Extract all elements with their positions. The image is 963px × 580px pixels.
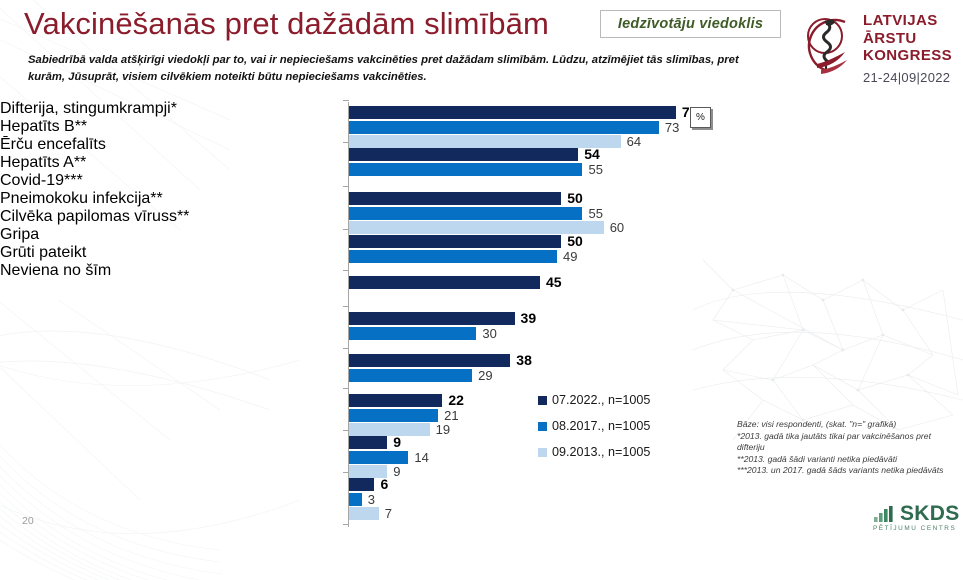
- axis-tick: [343, 186, 349, 187]
- percent-unit-badge: %: [690, 107, 711, 128]
- bar-value-label: 54: [584, 146, 600, 162]
- bar: [349, 507, 379, 520]
- page-subtitle: Sabiedrībā valda atšķirīgi viedokļi par …: [28, 52, 746, 85]
- bar-value-label: 3: [368, 492, 375, 507]
- legend-item[interactable]: 07.2022., n=1005: [538, 393, 650, 407]
- bar-value-label: 45: [546, 274, 562, 290]
- bar: [349, 312, 515, 325]
- axis-tick: [343, 229, 349, 230]
- legend-swatch: [538, 448, 547, 457]
- bar-value-label: 6: [380, 476, 388, 492]
- status-badge: Iedzīvotāju viedoklis: [600, 10, 781, 38]
- bar-value-label: 14: [414, 450, 428, 465]
- bar-value-label: 39: [521, 310, 537, 326]
- bar: [349, 276, 540, 289]
- bar: [349, 235, 561, 248]
- bar-value-label: 19: [436, 422, 450, 437]
- page-title: Vakcinēšanās pret dažādām slimībām: [24, 5, 549, 43]
- legend-swatch: [538, 396, 547, 405]
- bar-value-label: 30: [482, 326, 496, 341]
- bar: [349, 327, 476, 340]
- bar: [349, 478, 374, 491]
- bar-value-label: 21: [444, 408, 458, 423]
- legend-label: 07.2022., n=1005: [552, 393, 650, 407]
- bar: [349, 423, 430, 436]
- axis-tick: [343, 270, 349, 271]
- axis-tick: [343, 348, 349, 349]
- legend-item[interactable]: 09.2013., n=1005: [538, 445, 650, 459]
- bar: [349, 192, 561, 205]
- axis-tick: [343, 100, 349, 101]
- skds-tagline: PĒTĪJUMU CENTRS: [873, 525, 956, 532]
- legend-label: 08.2017., n=1005: [552, 419, 650, 433]
- bar-value-label: 9: [393, 464, 400, 479]
- bar: [349, 354, 510, 367]
- rod-of-asclepius-icon: [795, 8, 861, 80]
- bar-value-label: 29: [478, 368, 492, 383]
- status-badge-label: Iedzīvotāju viedoklis: [618, 16, 763, 32]
- axis-tick: [343, 306, 349, 307]
- bar-value-label: 38: [516, 352, 532, 368]
- bar: [349, 250, 557, 263]
- congress-line-2: ĀRSTU: [863, 30, 952, 48]
- bar: [349, 221, 604, 234]
- bar: [349, 148, 578, 161]
- bar-value-label: 64: [627, 134, 641, 149]
- page-number: 20: [22, 515, 34, 527]
- congress-date: 21-24|09|2022: [863, 70, 950, 85]
- bar-value-label: 50: [567, 190, 583, 206]
- congress-logo: LATVIJAS ĀRSTU KONGRESS 21-24|09|2022: [795, 4, 957, 96]
- bar-value-label: 60: [610, 220, 624, 235]
- bar-value-label: 9: [393, 434, 401, 450]
- congress-logo-text: LATVIJAS ĀRSTU KONGRESS: [863, 12, 952, 65]
- bar-value-label: 7: [385, 506, 392, 521]
- bar-chart-icon: [874, 506, 896, 522]
- axis-tick: [343, 388, 349, 389]
- bar: [349, 163, 582, 176]
- bar: [349, 135, 621, 148]
- skds-name: SKDS: [900, 502, 960, 526]
- percent-unit-label: %: [696, 112, 705, 123]
- slide: Vakcinēšanās pret dažādām slimībām Sabie…: [0, 0, 963, 544]
- bar-value-label: 50: [567, 233, 583, 249]
- bar: [349, 207, 582, 220]
- legend-item[interactable]: 08.2017., n=1005: [538, 419, 650, 433]
- bar: [349, 436, 387, 449]
- footnote: Bāze: visi respondenti, (skat. "n=" graf…: [737, 419, 949, 477]
- bar: [349, 394, 442, 407]
- bar-value-label: 73: [665, 120, 679, 135]
- axis-tick: [343, 524, 349, 525]
- bar-value-label: 49: [563, 249, 577, 264]
- bar: [349, 369, 472, 382]
- bar: [349, 493, 362, 506]
- bar: [349, 451, 408, 464]
- axis-tick: [343, 472, 349, 473]
- legend-label: 09.2013., n=1005: [552, 445, 650, 459]
- axis-tick: [343, 430, 349, 431]
- bar: [349, 409, 438, 422]
- axis-tick: [343, 142, 349, 143]
- skds-logo: SKDS PĒTĪJUMU CENTRS: [872, 502, 958, 538]
- bar-value-label: 22: [448, 392, 464, 408]
- bar: [349, 106, 676, 119]
- bar-value-label: 55: [588, 206, 602, 221]
- bar: [349, 121, 659, 134]
- legend-swatch: [538, 422, 547, 431]
- congress-line-1: LATVIJAS: [863, 12, 952, 30]
- bar-value-label: 55: [588, 162, 602, 177]
- congress-line-3: KONGRESS: [863, 47, 952, 65]
